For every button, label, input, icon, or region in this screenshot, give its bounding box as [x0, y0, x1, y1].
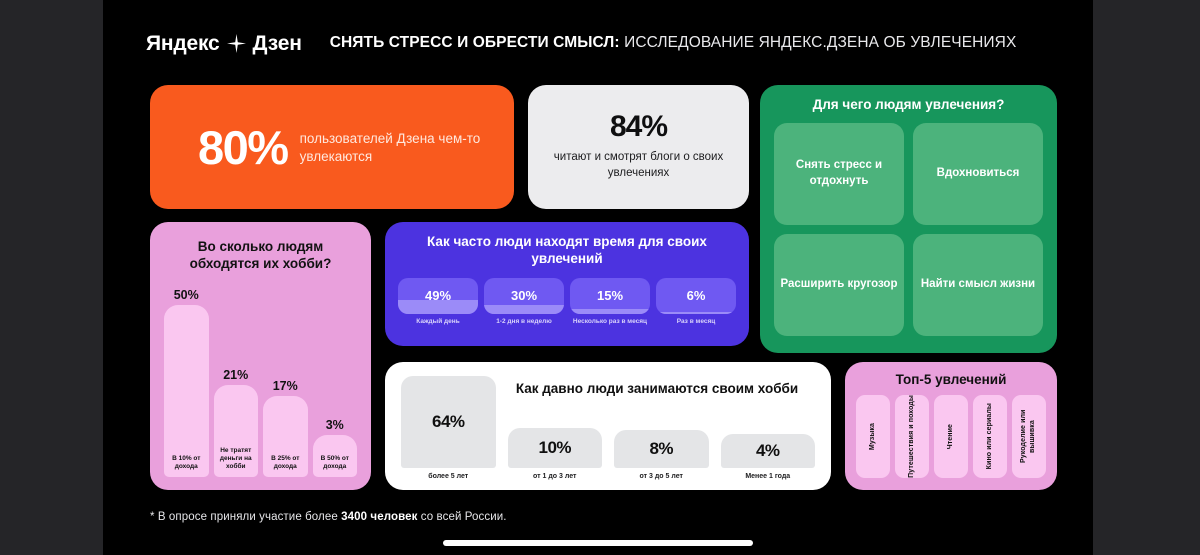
bar-value-label: 49% — [398, 278, 478, 314]
bar-group: 6%Раз в месяц — [656, 278, 736, 326]
screenshot-root: Яндекс Дзен СНЯТЬ СТРЕСС И ОБРЕСТИ СМЫСЛ… — [0, 0, 1200, 555]
bar-fill: 8% — [614, 430, 709, 468]
bar-category-label: Раз в месяц — [656, 318, 736, 326]
bar-category-label: Каждый день — [398, 318, 478, 326]
bar-group: 8%от 3 до 5 лет — [614, 430, 709, 480]
top5-tile-label: Музыка — [869, 423, 878, 450]
top5-tile: Кино или сериалы — [973, 395, 1007, 478]
page-title-strong: СНЯТЬ СТРЕСС И ОБРЕСТИ СМЫСЛ: — [330, 34, 620, 51]
bar-category-label: более 5 лет — [428, 473, 468, 480]
header-bar: Яндекс Дзен СНЯТЬ СТРЕСС И ОБРЕСТИ СМЫСЛ… — [103, 26, 1093, 60]
bar-fill: В 10% от дохода — [164, 305, 209, 477]
card-top5-hobbies: Топ-5 увлечений МузыкаПутешествия и похо… — [845, 362, 1057, 490]
bar-fill: Не тратят деньги на хобби — [214, 385, 259, 477]
why-hobbies-tile: Снять стресс и отдохнуть — [774, 123, 904, 225]
bar-value-label: 3% — [326, 418, 344, 432]
footnote-strong: 3400 человек — [341, 511, 417, 523]
card-title-why-hobbies: Для чего людям увлечения? — [774, 97, 1043, 112]
bar-value-label: 21% — [223, 368, 248, 382]
logo-text-dzen: Дзен — [253, 33, 302, 54]
bar-category-label: Несколько раз в месяц — [570, 318, 650, 326]
bar-category-label: В 50% от дохода — [313, 455, 358, 471]
bar-group: 50%В 10% от дохода — [164, 288, 209, 477]
bar-category-label: Менее 1 года — [745, 473, 790, 480]
logo-text-yandex: Яндекс — [146, 33, 220, 54]
chart-bars-hobby-cost: 50%В 10% от дохода21%Не тратят деньги на… — [162, 279, 359, 477]
bar-fill: 4% — [721, 434, 816, 468]
bar-value-label: 15% — [570, 278, 650, 314]
chart-title-hobby-frequency: Как часто люди находят время для своих у… — [398, 233, 736, 268]
yandex-dzen-logo[interactable]: Яндекс Дзен — [146, 33, 302, 54]
stat-value-84: 84% — [610, 112, 667, 142]
bar-value-label: 8% — [649, 439, 673, 459]
stat-caption-80: пользователей Дзена чем-то увлекаются — [300, 128, 514, 166]
top5-tile-label: Рукоделие или вышивка — [1020, 395, 1038, 478]
why-hobbies-tile: Найти смысл жизни — [913, 234, 1043, 336]
bar-value-label: 17% — [273, 379, 298, 393]
bar-track: 49% — [398, 278, 478, 314]
chart-bars-hobby-duration: 64%более 5 лет10%от 1 до 3 лет8%от 3 до … — [401, 372, 815, 480]
stat-caption-84: читают и смотрят блоги о своих увлечения… — [528, 150, 749, 181]
chart-card-hobby-frequency: Как часто люди находят время для своих у… — [385, 222, 749, 346]
footnote-suffix: со всей России. — [417, 511, 506, 523]
bar-track: 15% — [570, 278, 650, 314]
bar-track: 6% — [656, 278, 736, 314]
bar-group: 10%от 1 до 3 лет — [508, 428, 603, 480]
top5-tile-label: Кино или сериалы — [986, 403, 995, 469]
chart-bars-hobby-frequency: 49%Каждый день30%1-2 дня в неделю15%Неск… — [398, 278, 736, 326]
bar-group: 15%Несколько раз в месяц — [570, 278, 650, 326]
top5-tile: Путешествия и походы — [895, 395, 929, 478]
bar-category-label: В 25% от дохода — [263, 455, 308, 471]
top5-tile: Рукоделие или вышивка — [1012, 395, 1046, 478]
top5-tile-row: МузыкаПутешествия и походыЧтениеКино или… — [856, 395, 1046, 478]
bar-fill: В 25% от дохода — [263, 396, 308, 477]
why-hobbies-tile-grid: Снять стресс и отдохнуть Вдохновиться Ра… — [774, 123, 1043, 336]
bar-category-label: от 1 до 3 лет — [533, 473, 576, 480]
page-title: СНЯТЬ СТРЕСС И ОБРЕСТИ СМЫСЛ: ИССЛЕДОВАН… — [330, 35, 1017, 51]
bar-group: 17%В 25% от дохода — [263, 379, 308, 477]
bar-value-label: 64% — [432, 412, 465, 432]
bar-fill: В 50% от дохода — [313, 435, 358, 477]
bar-fill: 64% — [401, 376, 496, 468]
bar-track: 30% — [484, 278, 564, 314]
bar-value-label: 30% — [484, 278, 564, 314]
top5-tile-label: Путешествия и походы — [908, 395, 917, 478]
chart-card-hobby-cost: Во сколько людям обходятся их хобби? 50%… — [150, 222, 371, 490]
top5-tile-label: Чтение — [947, 424, 956, 449]
phone-content-area: Яндекс Дзен СНЯТЬ СТРЕСС И ОБРЕСТИ СМЫСЛ… — [103, 0, 1093, 555]
stat-card-84-percent: 84% читают и смотрят блоги о своих увлеч… — [528, 85, 749, 209]
bar-value-label: 50% — [174, 288, 199, 302]
bar-group: 64%более 5 лет — [401, 376, 496, 480]
bar-category-label: от 3 до 5 лет — [640, 473, 683, 480]
stat-value-80: 80% — [198, 124, 288, 171]
home-indicator[interactable] — [443, 540, 753, 546]
why-hobbies-tile: Вдохновиться — [913, 123, 1043, 225]
chart-title-hobby-cost: Во сколько людям обходятся их хобби? — [162, 238, 359, 273]
bar-value-label: 6% — [656, 278, 736, 314]
footnote: * В опросе приняли участие более 3400 че… — [150, 511, 507, 523]
card-why-hobbies: Для чего людям увлечения? Снять стресс и… — [760, 85, 1057, 353]
top5-tile: Музыка — [856, 395, 890, 478]
bar-group: 49%Каждый день — [398, 278, 478, 326]
sparkle-icon — [227, 34, 246, 53]
bar-fill: 10% — [508, 428, 603, 468]
bar-category-label: Не тратят деньги на хобби — [214, 447, 259, 471]
bar-value-label: 4% — [756, 441, 780, 461]
bar-group: 30%1-2 дня в неделю — [484, 278, 564, 326]
why-hobbies-tile: Расширить кругозор — [774, 234, 904, 336]
top5-tile: Чтение — [934, 395, 968, 478]
bar-category-label: В 10% от дохода — [164, 455, 209, 471]
card-title-top5: Топ-5 увлечений — [856, 372, 1046, 387]
chart-card-hobby-duration: Как давно люди занимаются своим хобби 64… — [385, 362, 831, 490]
stat-card-80-percent: 80% пользователей Дзена чем-то увлекаютс… — [150, 85, 514, 209]
footnote-prefix: * В опросе приняли участие более — [150, 511, 341, 523]
bar-category-label: 1-2 дня в неделю — [484, 318, 564, 326]
bar-group: 21%Не тратят деньги на хобби — [214, 368, 259, 477]
bar-value-label: 10% — [538, 438, 571, 458]
bar-group: 3%В 50% от дохода — [313, 418, 358, 477]
bar-group: 4%Менее 1 года — [721, 434, 816, 480]
page-title-rest: ИССЛЕДОВАНИЕ ЯНДЕКС.ДЗЕНА ОБ УВЛЕЧЕНИЯХ — [620, 34, 1017, 51]
